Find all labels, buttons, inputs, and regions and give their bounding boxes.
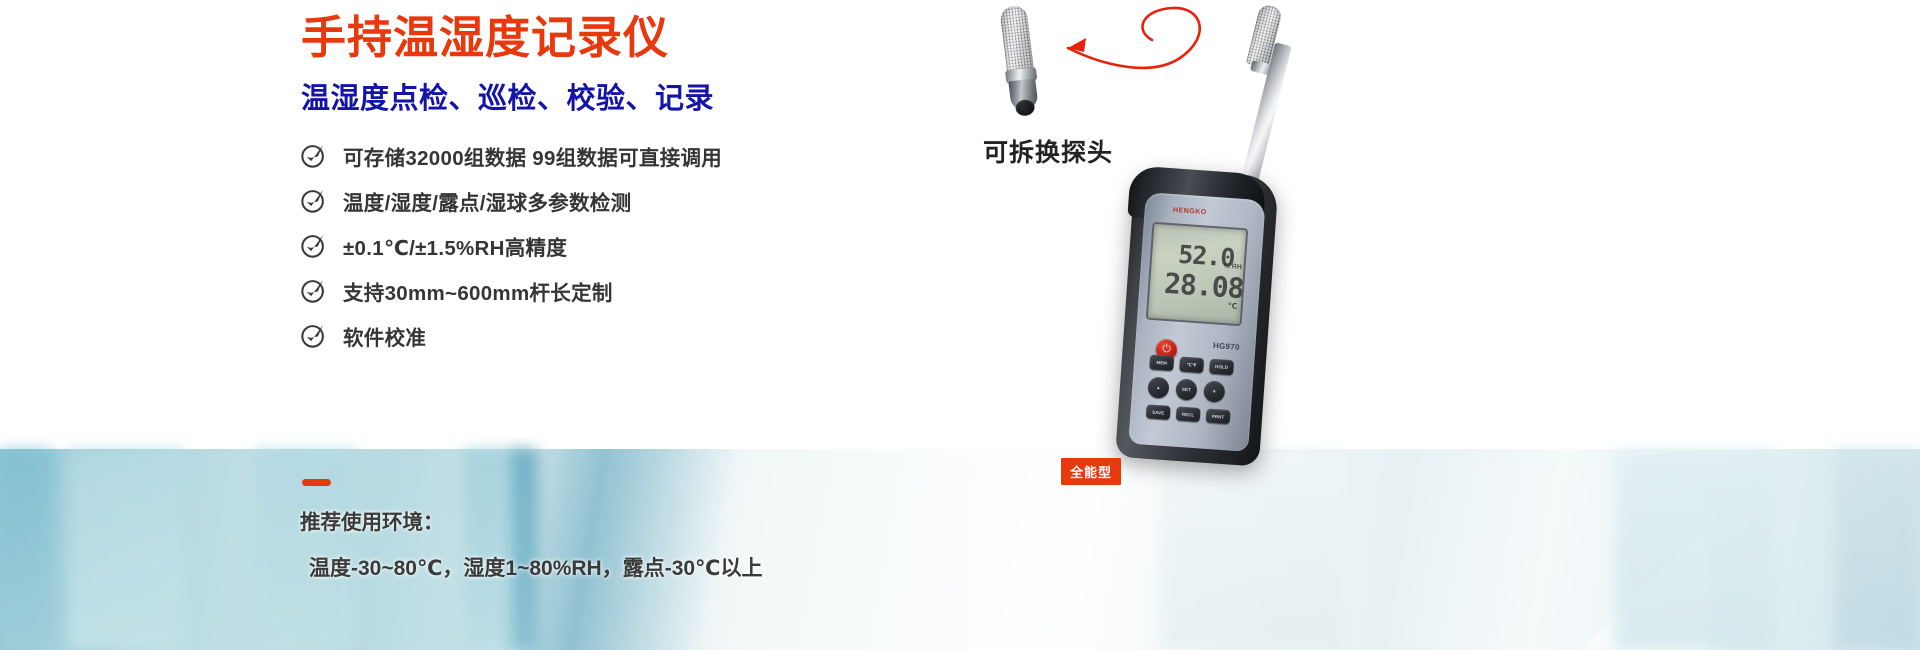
product-device: HENGKO 52.0 % RH 28.08 ℃ ⏻ HG970 MEM ℃℉ … <box>1025 0 1355 520</box>
lcd-display: 52.0 % RH 28.08 ℃ <box>1146 222 1249 326</box>
model-number: HG970 <box>1213 341 1240 352</box>
accent-dash <box>302 479 331 486</box>
feature-text: 温度/湿度/露点/湿球多参数检测 <box>343 186 631 216</box>
background-panel-7 <box>1615 449 1775 650</box>
background-panel-5 <box>512 449 538 650</box>
list-item: 温度/湿度/露点/湿球多参数检测 <box>300 178 920 223</box>
list-item: 软件校准 <box>300 313 920 358</box>
feature-text: ±0.1℃/±1.5%RH高精度 <box>343 231 567 261</box>
background-panel-8 <box>1835 449 1920 650</box>
key-up-max[interactable]: ▲ <box>1147 376 1169 398</box>
circle-check-icon <box>300 232 327 259</box>
key-print[interactable]: PRNT <box>1206 408 1231 424</box>
background-top-white <box>0 0 1920 449</box>
feature-list: 可存储32000组数据 99组数据可直接调用 温度/湿度/露点/湿球多参数检测 … <box>300 133 920 358</box>
background-panel-2 <box>68 449 183 650</box>
key-hold-light[interactable]: HOLD <box>1209 359 1234 376</box>
circle-check-icon <box>300 142 327 169</box>
humidity-unit: % RH <box>1223 263 1242 271</box>
environment-detail: 温度-30~80℃，湿度1~80%RH，露点-30℃以上 <box>309 552 763 582</box>
page-subtitle: 温湿度点检、巡检、校验、记录 <box>301 80 714 118</box>
page-title: 手持温湿度记录仪 <box>301 9 669 67</box>
key-unit[interactable]: ℃℉ <box>1179 357 1204 374</box>
key-mem-rec[interactable]: MEM <box>1149 354 1174 371</box>
product-banner: 手持温湿度记录仪 温湿度点检、巡检、校验、记录 可存储32000组数据 99组数… <box>0 0 1920 650</box>
background-panel-1 <box>0 449 52 650</box>
list-item: 可存储32000组数据 99组数据可直接调用 <box>300 133 920 178</box>
temperature-reading: 28.08 <box>1163 267 1244 305</box>
key-set-mode[interactable]: SET <box>1175 378 1197 400</box>
temperature-unit: ℃ <box>1228 301 1238 311</box>
feature-text: 支持30mm~600mm杆长定制 <box>343 276 613 306</box>
key-recl[interactable]: RECL <box>1176 406 1201 422</box>
device-keypad: MEM ℃℉ HOLD ▲ SET ▼ SAVE RECL PRNT <box>1142 354 1258 451</box>
list-item: ±0.1℃/±1.5%RH高精度 <box>300 223 920 268</box>
key-save[interactable]: SAVE <box>1146 404 1171 420</box>
feature-text: 可存储32000组数据 99组数据可直接调用 <box>343 141 722 171</box>
list-item: 支持30mm~600mm杆长定制 <box>300 268 920 313</box>
key-down-min[interactable]: ▼ <box>1203 380 1225 402</box>
circle-check-icon <box>300 187 327 214</box>
circle-check-icon <box>300 277 327 304</box>
environment-title: 推荐使用环境： <box>300 505 444 535</box>
circle-check-icon <box>300 322 327 349</box>
feature-text: 软件校准 <box>343 321 426 351</box>
status-badge: 全能型 <box>1061 458 1121 485</box>
